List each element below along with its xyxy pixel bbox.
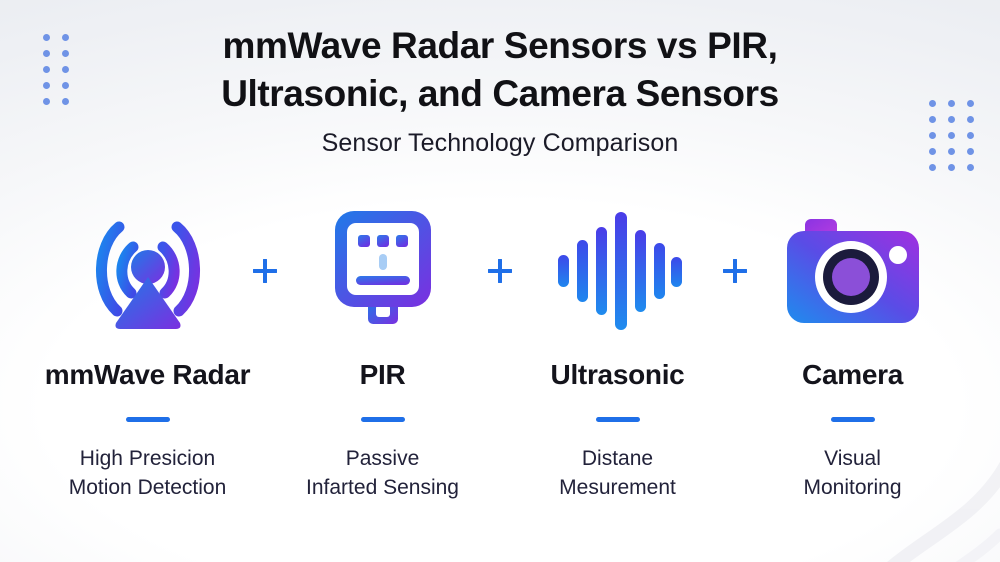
desc-line-2: Monitoring: [735, 474, 970, 503]
sensor-description: Passive Infarted Sensing: [265, 445, 500, 503]
sensor-icon-cell-camera: [758, 211, 948, 329]
sensor-description: Distane Mesurement: [500, 445, 735, 503]
header: mmWave Radar Sensors vs PIR, Ultrasonic,…: [0, 22, 1000, 158]
sensor-label-pir: PIR Passive Infarted Sensing: [265, 360, 500, 503]
sensor-name: PIR: [265, 360, 500, 391]
page-title: mmWave Radar Sensors vs PIR, Ultrasonic,…: [120, 22, 880, 118]
plus-icon: [252, 258, 278, 284]
desc-line-2: Mesurement: [500, 474, 735, 503]
desc-line-1: Passive: [265, 445, 500, 474]
sensor-label-camera: Camera Visual Monitoring: [735, 360, 970, 503]
sensor-icon-cell-mmwave: [53, 205, 243, 335]
sensor-description: Visual Monitoring: [735, 445, 970, 503]
accent-divider: [126, 417, 170, 422]
pir-sensor-icon: [328, 205, 438, 335]
sensor-icon-cell-pir: [288, 205, 478, 335]
sensor-name: Ultrasonic: [500, 360, 735, 391]
sensor-icon-cell-ultrasonic: [523, 205, 713, 335]
decorative-dot: [967, 164, 974, 171]
accent-divider: [361, 417, 405, 422]
sensor-label-row: mmWave Radar High Presicion Motion Detec…: [0, 360, 1000, 503]
plus-icon: [722, 258, 748, 284]
camera-icon: [783, 211, 923, 329]
accent-divider: [831, 417, 875, 422]
plus-separator-2: [478, 258, 523, 284]
desc-line-1: Visual: [735, 445, 970, 474]
mmwave-radar-icon: [73, 205, 223, 335]
decorative-dot: [929, 164, 936, 171]
accent-divider: [596, 417, 640, 422]
desc-line-1: Distane: [500, 445, 735, 474]
infographic-canvas: mmWave Radar Sensors vs PIR, Ultrasonic,…: [0, 0, 1000, 562]
sensor-description: High Presicion Motion Detection: [30, 445, 265, 503]
sensor-name: mmWave Radar: [30, 360, 265, 391]
desc-line-2: Motion Detection: [30, 474, 265, 503]
page-subtitle: Sensor Technology Comparison: [0, 129, 1000, 158]
title-line-1: mmWave Radar Sensors vs PIR,: [120, 22, 880, 70]
title-line-2: Ultrasonic, and Camera Sensors: [120, 70, 880, 118]
plus-icon: [487, 258, 513, 284]
plus-separator-1: [243, 258, 288, 284]
desc-line-2: Infarted Sensing: [265, 474, 500, 503]
sensor-icon-row: [0, 205, 1000, 335]
sensor-label-ultrasonic: Ultrasonic Distane Mesurement: [500, 360, 735, 503]
plus-separator-3: [713, 258, 758, 284]
sensor-label-mmwave: mmWave Radar High Presicion Motion Detec…: [30, 360, 265, 503]
ultrasonic-waveform-icon: [550, 205, 685, 335]
desc-line-1: High Presicion: [30, 445, 265, 474]
sensor-name: Camera: [735, 360, 970, 391]
decorative-dot: [948, 164, 955, 171]
